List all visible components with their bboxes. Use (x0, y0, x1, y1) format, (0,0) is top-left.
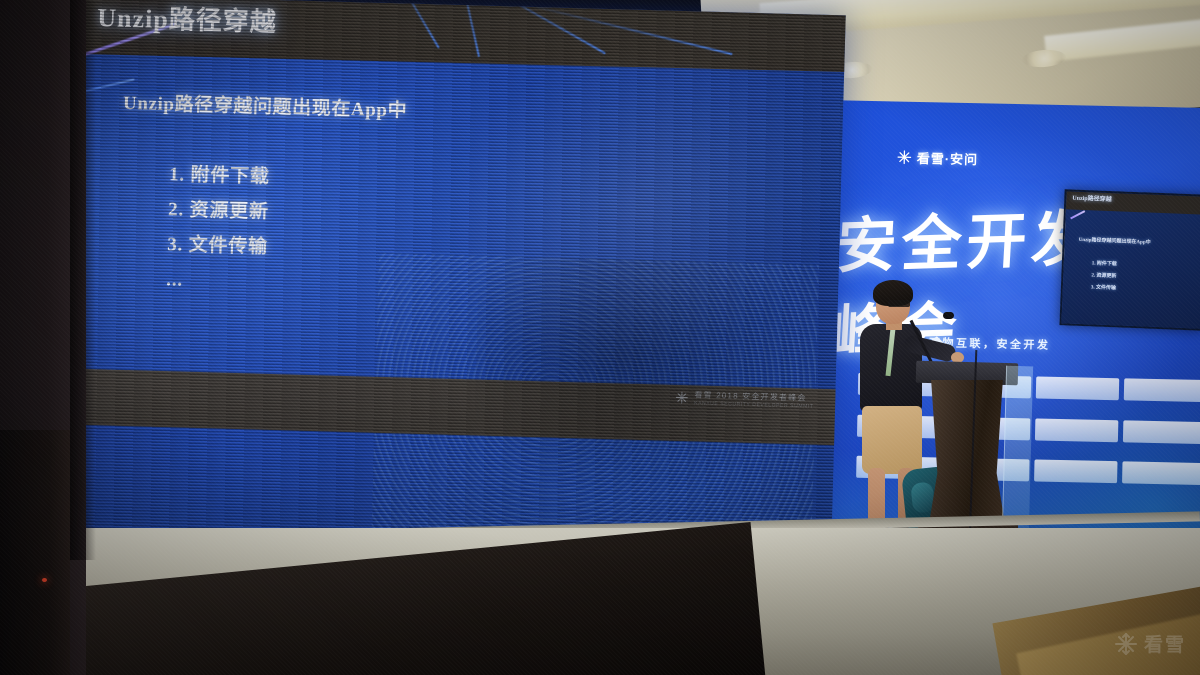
banner-logo-text: 看雪·安问 (917, 148, 979, 168)
slide-list-ellipsis: ... (166, 262, 268, 300)
conference-photo-scene: 看雪·安问 安全开发者峰会 万物互联，安全开发 Unzip路径穿越 Unzip路… (0, 0, 1200, 675)
podium-body (928, 380, 1006, 530)
side-confidence-monitor: Unzip路径穿越 Unzip路径穿越问题出现在App中 1. 附件下载 2. … (1059, 189, 1200, 330)
left-drape-edge (70, 0, 96, 560)
speaker-shorts (862, 406, 922, 474)
monitor-list-item: 1. 附件下载 (1092, 258, 1117, 271)
watermark-text: 看雪 (1144, 630, 1186, 657)
slide-list-item: 2. 资源更新 (168, 192, 270, 230)
podium-glass-panel (1002, 366, 1033, 532)
monitor-slide-subtitle: Unzip路径穿越问题出现在App中 (1079, 236, 1151, 246)
snowflake-icon (1114, 632, 1138, 656)
slide-footer-text: 看雪 2018 安全开发者峰会 KANXUE SECURITY DEVELOPE… (694, 389, 814, 409)
speaker-glasses-icon (888, 300, 910, 307)
monitor-slide-title: Unzip路径穿越 (1072, 193, 1112, 204)
slide-list-item: 1. 附件下载 (169, 157, 271, 195)
equipment-red-led-icon (42, 578, 47, 582)
sponsor-logo (1123, 420, 1200, 444)
microphone-icon (943, 312, 954, 319)
main-led-screen: Unzip路径穿越 Unzip路径穿越问题出现在App中 1. 附件下载 2. … (41, 0, 846, 581)
banner-logo: 看雪·安问 (897, 148, 979, 169)
monitor-list-item: 3. 文件传输 (1091, 282, 1116, 295)
slide-title: Unzip路径穿越 (97, 0, 277, 39)
monitor-slide-list: 1. 附件下载 2. 资源更新 3. 文件传输 (1091, 258, 1117, 295)
monitor-list-item: 2. 资源更新 (1091, 270, 1116, 283)
presentation-slide: Unzip路径穿越 Unzip路径穿越问题出现在App中 1. 附件下载 2. … (41, 0, 846, 581)
snowflake-icon (675, 391, 688, 404)
slide-bullet-list: 1. 附件下载 2. 资源更新 3. 文件传输 ... (166, 157, 270, 300)
sponsor-logo (1124, 378, 1200, 402)
monitor-accent-line (1070, 210, 1085, 219)
snowflake-icon (897, 150, 912, 165)
slide-subtitle: Unzip路径穿越问题出现在App中 (123, 88, 408, 123)
watermark: 看雪 (1114, 630, 1186, 657)
sponsor-logo (1034, 418, 1118, 442)
left-foreground-column (0, 430, 70, 675)
slide-list-item: 3. 文件传输 (167, 227, 269, 265)
sponsor-logo (1035, 376, 1119, 400)
